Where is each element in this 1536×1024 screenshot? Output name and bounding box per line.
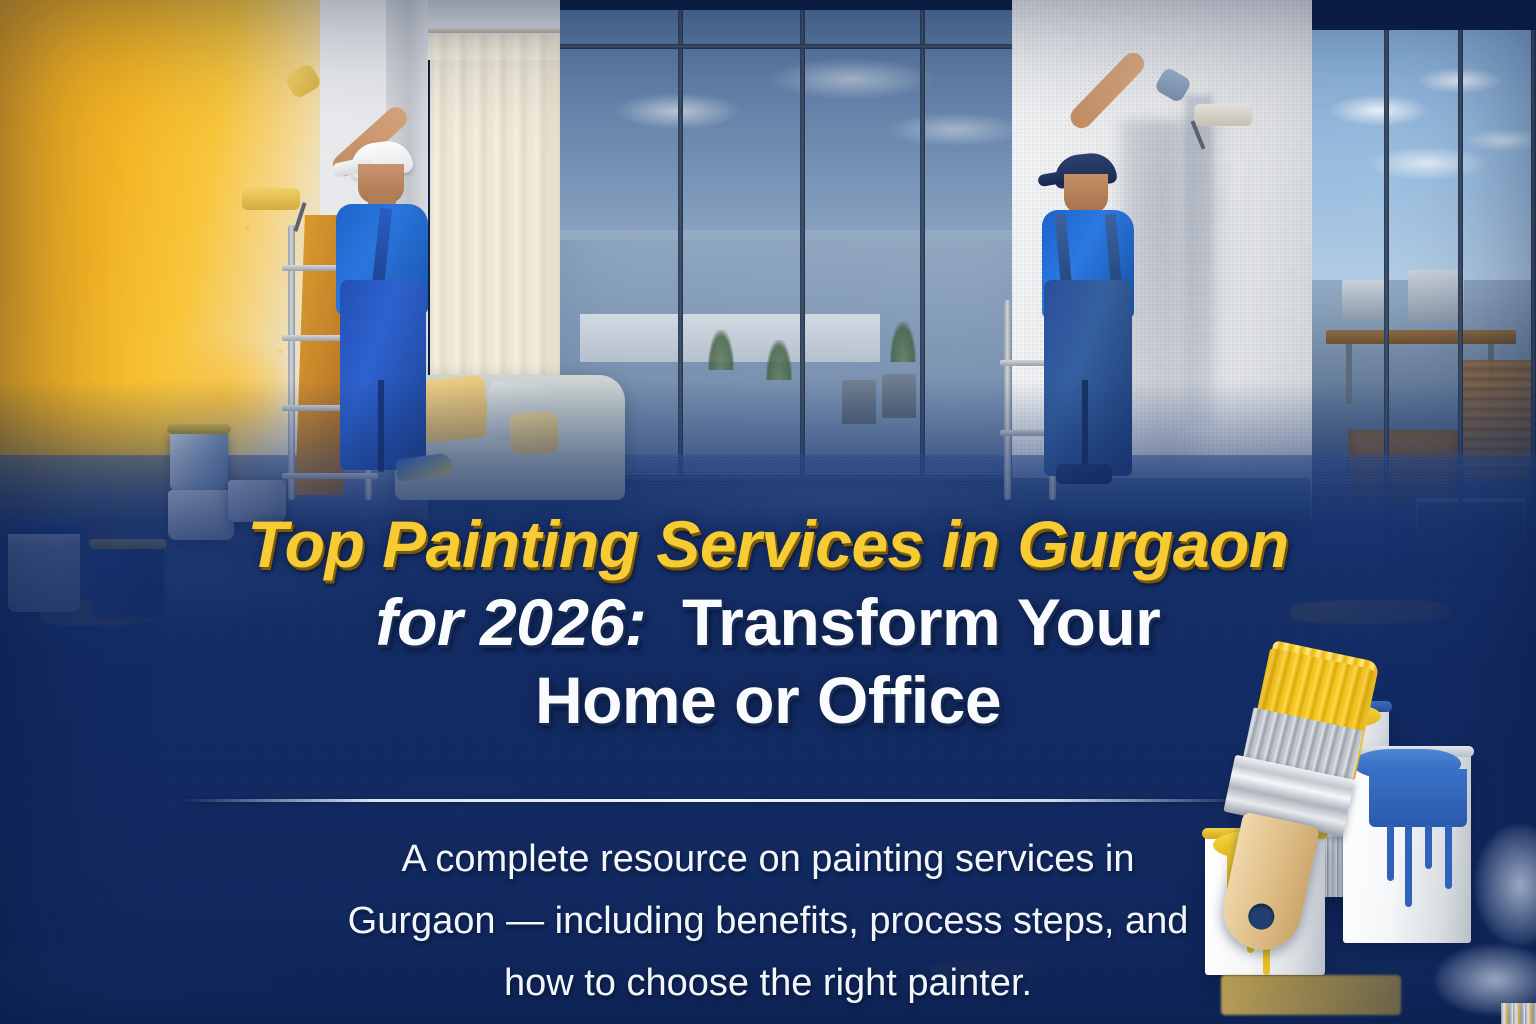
potted-plant [708,330,734,370]
potted-plant [890,322,916,362]
bucket-rim [167,424,231,434]
small-yellow-cushion [509,411,559,455]
office-desk [1326,330,1516,344]
monitor [1408,270,1464,322]
title-divider [183,799,1245,802]
leg-seam [1082,380,1088,476]
head [1064,174,1108,214]
title-line-2-year: for 2026: [376,585,647,659]
curtain-rod [428,28,576,33]
title-line-2-main: Transform Your [682,585,1160,659]
blue-drip [1387,825,1394,881]
desk-leg [1346,344,1352,404]
terrace-chair [842,380,876,424]
title-line-1: Top Painting Services in Gurgaon [0,505,1536,583]
painter-left [300,130,440,500]
glass-curtain-wall [560,10,1030,480]
potted-plant [766,340,792,380]
roller-nap [242,188,300,210]
terrace-chair [882,374,916,418]
paint-bucket [170,430,228,492]
blue-overalls [1044,280,1132,476]
window-mullion [678,10,683,480]
window-mullion [800,10,805,480]
blue-drip [1445,825,1452,889]
window-mullion [560,44,1030,49]
painting-services-hero-banner: Top Painting Services in Gurgaon for 202… [0,0,1536,1024]
paint-cans-and-brush-group [1185,645,1536,1024]
window-mullion [920,10,925,480]
blue-drip [1405,825,1412,907]
cloud-reflection [1312,30,1536,260]
yellow-paint-floor-mark [1221,975,1401,1015]
work-shoe [1056,464,1112,484]
brush-handle [1216,812,1320,957]
monitor [1342,280,1388,320]
roller-nap [1194,104,1252,126]
painter-right [1016,140,1156,500]
blue-drip [1425,825,1432,869]
leg-seam [378,380,384,472]
blue-paint-overflow [1369,769,1467,827]
ladder-rail [1004,300,1011,500]
paint-splash [1435,945,1536,1015]
paint-splash [1475,825,1536,945]
